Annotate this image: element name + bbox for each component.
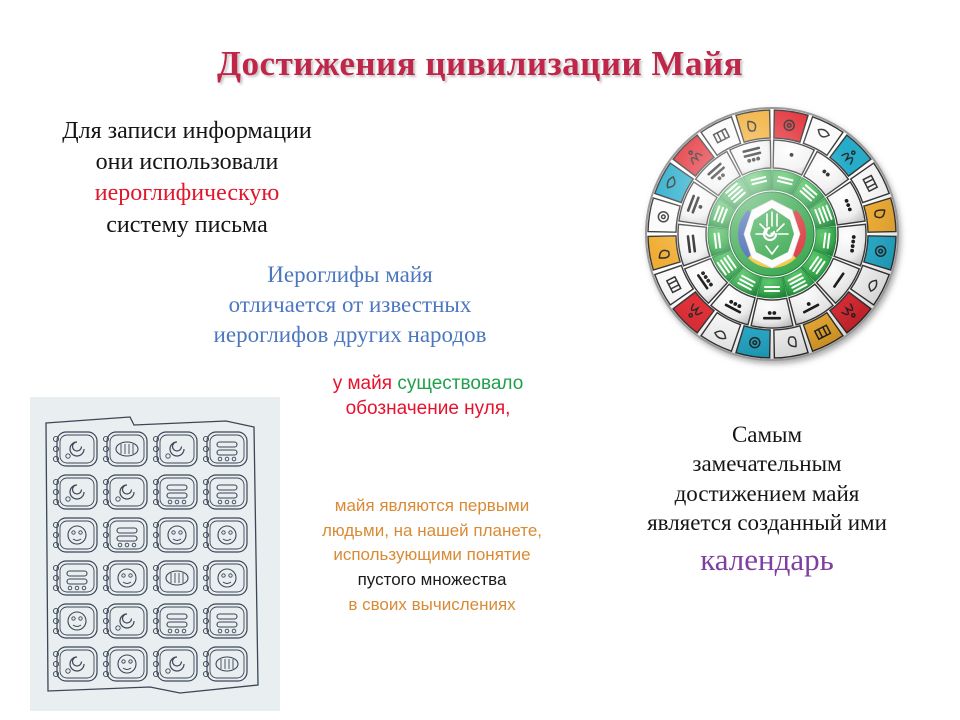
maya-calendar-wheel-image [640, 100, 908, 372]
zero-part-2: существовало [397, 373, 523, 394]
zero-line-1: у майя существовало [288, 371, 568, 396]
calendar-line-2: замечательным [592, 449, 942, 478]
text-block-zero-notation: у майя существовало обозначение нуля, [288, 371, 568, 422]
empty-line-1: майя являются первыми [282, 494, 582, 519]
writing-highlight: иероглифическую [22, 178, 352, 209]
text-block-empty-set: майя являются первыми людьми, на нашей п… [282, 494, 582, 617]
calendar-line-3: достижением майя [592, 479, 942, 508]
calendar-keyword: календарь [592, 540, 942, 580]
text-block-calendar-achievement: Самым замечательным достижением майя явл… [592, 420, 942, 579]
glyphs-line-1: Иероглифы майя [150, 260, 550, 290]
writing-line-4: систему письма [22, 210, 352, 241]
maya-codex-image [30, 397, 280, 711]
slide-root: Достижения цивилизации Майя Для записи и… [0, 0, 960, 720]
zero-part-1: у майя [333, 373, 398, 394]
empty-line-4: пустого множества [282, 568, 582, 593]
text-block-glyphs-unique: Иероглифы майя отличается от известных и… [150, 260, 550, 350]
glyphs-line-3: иероглифов других народов [150, 320, 550, 350]
calendar-line-4: является созданный ими [592, 508, 942, 537]
empty-line-5: в своих вычислениях [282, 593, 582, 618]
writing-line-1: Для записи информации [22, 116, 352, 147]
empty-line-2: людьми, на нашей планете, [282, 519, 582, 544]
text-block-writing-system: Для записи информации они использовали и… [22, 116, 352, 241]
glyphs-line-2: отличается от известных [150, 290, 550, 320]
calendar-line-1: Самым [592, 420, 942, 449]
writing-line-2: они использовали [22, 147, 352, 178]
empty-line-3: использующими понятие [282, 543, 582, 568]
zero-line-2: обозначение нуля, [288, 396, 568, 421]
page-title: Достижения цивилизации Майя [0, 44, 960, 84]
